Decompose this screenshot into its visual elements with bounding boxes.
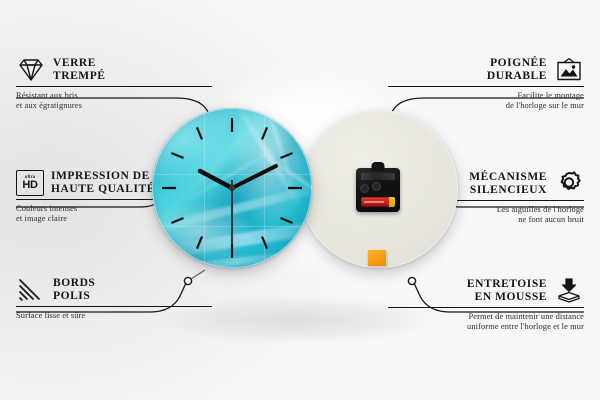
foam-spacer xyxy=(368,250,386,266)
minute-hand xyxy=(232,166,276,188)
title-rule xyxy=(388,86,584,87)
clock-back-face xyxy=(300,110,458,268)
diamond-icon xyxy=(16,57,46,83)
hands-hub xyxy=(229,185,235,191)
clock-dial xyxy=(152,108,312,268)
ultra-hd-icon-large-label: HD xyxy=(22,180,37,191)
clock-front-face xyxy=(152,108,312,268)
title-rule xyxy=(388,307,584,308)
movement-label xyxy=(361,173,395,180)
feature-desc: Permet de maintenir une distance uniform… xyxy=(388,312,584,333)
feature-desc: Surface lisse et sûre xyxy=(16,311,212,321)
feature-title: IMPRESSION DE HAUTE QUALITÉ xyxy=(51,170,155,195)
feature-verre-trempe: VERRE TREMPÉ Résistant aux bris et aux é… xyxy=(16,57,212,111)
product-infographic: VERRE TREMPÉ Résistant aux bris et aux é… xyxy=(0,0,600,400)
gear-icon xyxy=(554,170,584,197)
feature-bords-polis: BORDS POLIS Surface lisse et sûre xyxy=(16,277,212,321)
title-rule xyxy=(16,306,212,307)
polished-edges-icon xyxy=(16,277,46,303)
battery xyxy=(361,197,395,207)
feature-title: MÉCANISME SILENCIEUX xyxy=(469,171,547,196)
movement-hanger-tab xyxy=(372,162,385,171)
picture-frame-icon xyxy=(554,57,584,83)
movement-dial-left xyxy=(360,184,369,193)
feature-title: VERRE TREMPÉ xyxy=(53,57,106,82)
foam-spacer-icon xyxy=(554,277,584,304)
ultra-hd-icon: ultra HD xyxy=(16,170,44,196)
feature-desc: Facilite le montage de l'horloge sur le … xyxy=(388,91,584,112)
movement-dial-right xyxy=(372,182,381,191)
feature-poignee-durable: POIGNÉE DURABLE Facilite le montage de l… xyxy=(388,57,584,111)
feature-title: ENTRETOISE EN MOUSSE xyxy=(467,278,547,303)
feature-entretoise-en-mousse: ENTRETOISE EN MOUSSE Permet de maintenir… xyxy=(388,277,584,332)
feature-title: BORDS POLIS xyxy=(53,277,95,302)
title-rule xyxy=(16,86,212,87)
hour-hand xyxy=(200,171,232,188)
clock-movement-mechanism xyxy=(356,168,400,212)
feature-title: POIGNÉE DURABLE xyxy=(487,57,547,82)
